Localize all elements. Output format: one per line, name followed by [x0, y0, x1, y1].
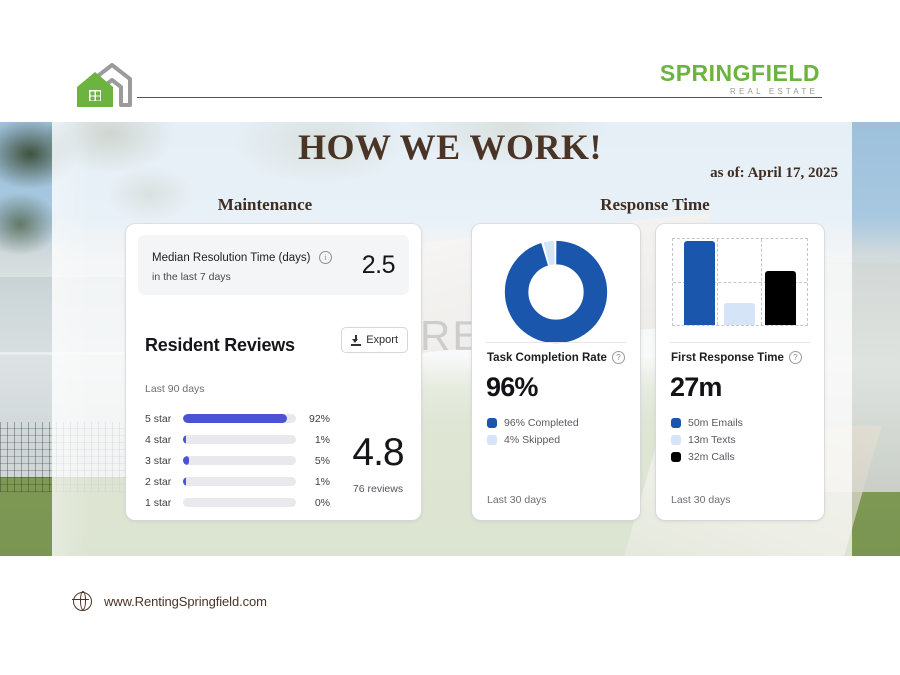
header-divider	[137, 97, 822, 98]
star-distribution-chart: 5 star92%4 star1%3 star5%2 star1%1 star0…	[145, 408, 330, 513]
brand-lockup: SPRINGFIELD REAL ESTATE	[660, 62, 820, 96]
house-logo-icon	[74, 61, 136, 111]
star-bar-track	[183, 456, 296, 465]
response-legend-item: 50m Emails	[671, 414, 743, 431]
star-bar-track	[183, 414, 296, 423]
legend-swatch	[487, 418, 497, 428]
task-completion-donut-chart	[472, 236, 640, 348]
help-icon[interactable]: ?	[789, 351, 802, 364]
website-link[interactable]: www.RentingSpringfield.com	[73, 592, 267, 611]
brand-tagline: REAL ESTATE	[660, 88, 818, 96]
card-divider	[670, 342, 810, 343]
maintenance-card: Median Resolution Time (days) i in the l…	[126, 224, 421, 520]
star-bar-fill	[183, 435, 186, 444]
review-count: 76 reviews	[341, 483, 415, 495]
globe-icon	[73, 592, 92, 611]
task-completion-legend: 96% Completed4% Skipped	[487, 414, 579, 448]
star-bar-row: 1 star0%	[145, 492, 330, 513]
response-bar	[765, 271, 796, 325]
first-response-legend: 50m Emails13m Texts32m Calls	[671, 414, 743, 465]
response-bar	[724, 303, 755, 325]
card-divider	[486, 342, 626, 343]
star-bar-track	[183, 477, 296, 486]
star-bar-percent: 92%	[304, 413, 330, 425]
average-score-box: 4.8 76 reviews	[341, 433, 415, 495]
resident-reviews-period: Last 90 days	[145, 383, 205, 395]
first-response-footer: Last 30 days	[671, 494, 731, 506]
section-heading-response-time: Response Time	[530, 195, 780, 215]
median-resolution-subtitle: in the last 7 days	[152, 270, 332, 284]
median-resolution-value: 2.5	[362, 251, 395, 280]
star-bar-percent: 1%	[304, 476, 330, 488]
section-heading-maintenance: Maintenance	[145, 195, 385, 215]
legend-swatch	[671, 418, 681, 428]
first-response-value: 27m	[670, 372, 722, 403]
task-completion-footer: Last 30 days	[487, 494, 547, 506]
legend-swatch	[671, 435, 681, 445]
star-bar-fill	[183, 456, 189, 465]
legend-label: 4% Skipped	[504, 434, 560, 446]
donut-segment	[517, 253, 596, 332]
resident-reviews-title: Resident Reviews	[145, 335, 295, 356]
legend-label: 32m Calls	[688, 451, 735, 463]
response-bar	[684, 241, 715, 325]
legend-swatch	[487, 435, 497, 445]
page-footer: www.RentingSpringfield.com	[0, 556, 900, 675]
info-icon[interactable]: i	[319, 251, 332, 264]
as-of-date: as of: April 17, 2025	[710, 165, 838, 182]
task-completion-card: Task Completion Rate? 96% 96% Completed4…	[472, 224, 640, 520]
export-download-icon	[351, 335, 361, 346]
star-bar-track	[183, 498, 296, 507]
star-bar-row: 2 star1%	[145, 471, 330, 492]
response-legend-item: 13m Texts	[671, 431, 743, 448]
task-legend-item: 96% Completed	[487, 414, 579, 431]
first-response-time-bar-chart	[672, 238, 808, 326]
star-bar-row: 4 star1%	[145, 429, 330, 450]
first-response-time-card: First Response Time? 27m 50m Emails13m T…	[656, 224, 824, 520]
star-bar-track	[183, 435, 296, 444]
star-bar-percent: 5%	[304, 455, 330, 467]
task-completion-label-text: Task Completion Rate	[487, 352, 607, 364]
task-legend-item: 4% Skipped	[487, 431, 579, 448]
page-header: SPRINGFIELD REAL ESTATE	[0, 0, 900, 122]
response-legend-item: 32m Calls	[671, 448, 743, 465]
median-resolution-time-panel: Median Resolution Time (days) i in the l…	[138, 235, 409, 295]
task-completion-label: Task Completion Rate?	[487, 351, 625, 364]
star-bar-fill	[183, 477, 186, 486]
star-bar-label: 3 star	[145, 455, 183, 467]
star-bar-percent: 1%	[304, 434, 330, 446]
median-resolution-label: Median Resolution Time (days)	[152, 252, 311, 264]
legend-swatch	[671, 452, 681, 462]
legend-label: 96% Completed	[504, 417, 579, 429]
photo-overlay-fade	[52, 122, 92, 556]
star-bar-row: 3 star5%	[145, 450, 330, 471]
legend-label: 13m Texts	[688, 434, 736, 446]
star-bar-label: 5 star	[145, 413, 183, 425]
first-response-label: First Response Time?	[671, 351, 802, 364]
export-button-label: Export	[366, 334, 398, 346]
first-response-label-text: First Response Time	[671, 352, 784, 364]
page-title: HOW WE WORK!	[0, 126, 900, 168]
average-score-value: 4.8	[341, 433, 415, 472]
brand-name: SPRINGFIELD	[660, 62, 820, 85]
star-bar-label: 4 star	[145, 434, 183, 446]
export-button[interactable]: Export	[341, 327, 408, 353]
legend-label: 50m Emails	[688, 417, 743, 429]
star-bar-label: 2 star	[145, 476, 183, 488]
page-title-wrap: HOW WE WORK!	[0, 126, 900, 168]
help-icon[interactable]: ?	[612, 351, 625, 364]
star-bar-fill	[183, 414, 287, 423]
star-bar-percent: 0%	[304, 497, 330, 509]
website-url: www.RentingSpringfield.com	[104, 594, 267, 609]
star-bar-row: 5 star92%	[145, 408, 330, 429]
star-bar-label: 1 star	[145, 497, 183, 509]
task-completion-value: 96%	[486, 372, 538, 403]
